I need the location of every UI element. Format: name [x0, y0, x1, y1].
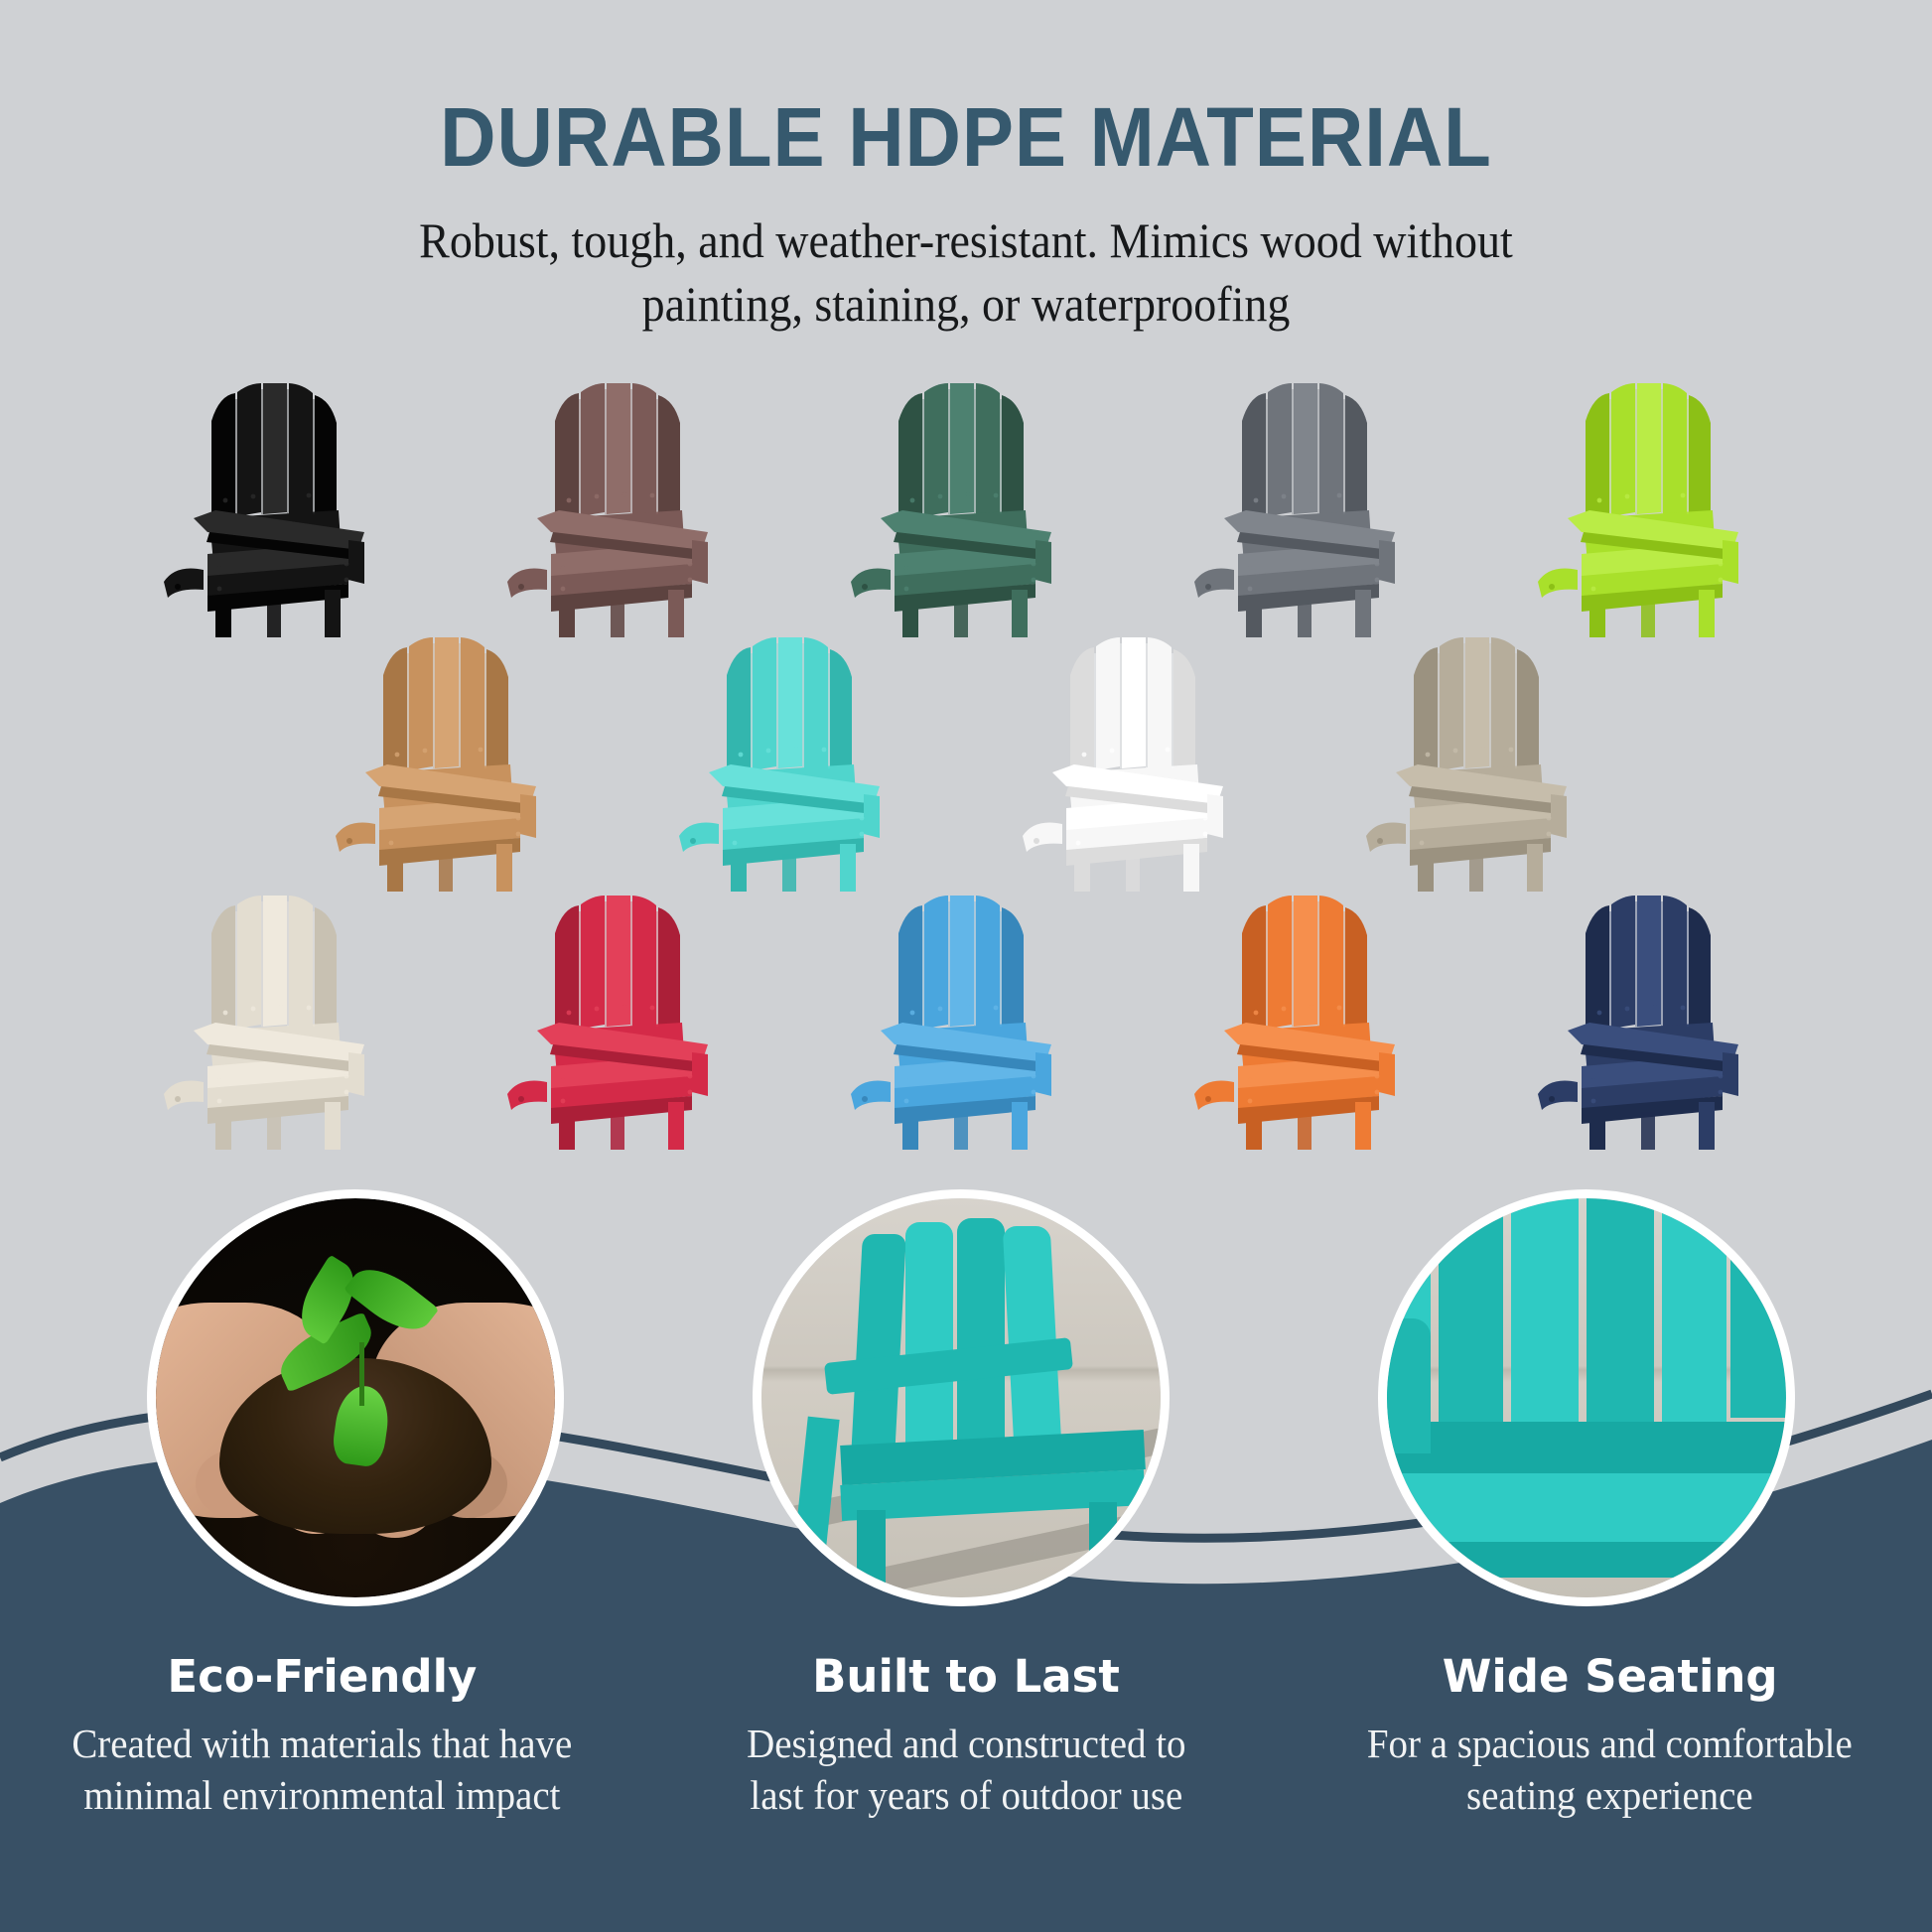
feature-photo-built-to-last	[753, 1189, 1170, 1606]
chair-illustration	[150, 369, 408, 637]
chair-swatch-brown[interactable]	[493, 369, 752, 637]
chair-swatch-gray[interactable]	[1180, 369, 1439, 637]
chair-leg	[1089, 1502, 1117, 1597]
feature-title: Built to Last	[672, 1652, 1261, 1702]
header: DURABLE HDPE MATERIAL Robust, tough, and…	[0, 0, 1932, 336]
chair-swatch-crimson-red[interactable]	[493, 882, 752, 1150]
chair-illustration	[1180, 882, 1439, 1150]
subtitle-line-2: painting, staining, or waterproofing	[77, 272, 1855, 336]
subtitle-line-1: Robust, tough, and weather-resistant. Mi…	[77, 208, 1855, 272]
chair-illustration	[665, 623, 923, 892]
page-subtitle: Robust, tough, and weather-resistant. Mi…	[77, 179, 1855, 336]
feature-photo-wide-seating	[1378, 1189, 1795, 1606]
chair-illustration	[1524, 882, 1782, 1150]
chair-armrest	[1387, 1318, 1431, 1454]
feature-captions: Eco-Friendly Created with materials that…	[0, 1652, 1932, 1821]
feature-photos	[0, 1189, 1932, 1656]
chair-back-slat	[1662, 1198, 1725, 1422]
chair-swatch-lime-green[interactable]	[1524, 369, 1782, 637]
chair-seat-front-edge	[1387, 1422, 1786, 1473]
chair-illustration	[493, 369, 752, 637]
chair-seat-apron	[1387, 1542, 1786, 1578]
chair-illustration	[322, 623, 580, 892]
chair-row-1	[0, 369, 1932, 637]
feature-description: Created with materials that have minimal…	[43, 1718, 602, 1822]
chair-row-2	[0, 623, 1932, 892]
feature-description-line-2: last for years of outdoor use	[750, 1772, 1182, 1818]
chair-back-slat	[1439, 1198, 1502, 1422]
chair-illustration	[1352, 623, 1610, 892]
chair-swatch-white[interactable]	[1009, 623, 1267, 892]
feature-description-line-2: minimal environmental impact	[83, 1772, 560, 1818]
chair-illustration	[493, 882, 752, 1150]
feature-description-line-1: For a spacious and comfortable	[1367, 1721, 1853, 1766]
chair-back-slat	[1587, 1198, 1654, 1422]
feature-title: Eco-Friendly	[28, 1652, 617, 1702]
chair-swatch-ivory[interactable]	[150, 882, 408, 1150]
feature-description: For a spacious and comfortable seating e…	[1330, 1718, 1889, 1822]
chair-swatch-greige[interactable]	[1352, 623, 1610, 892]
chair-back-slat	[1511, 1198, 1579, 1422]
page-title: DURABLE HDPE MATERIAL	[68, 0, 1864, 179]
chair-back-slat	[905, 1222, 953, 1461]
feature-photo-eco-friendly	[147, 1189, 564, 1606]
chair-leg	[857, 1510, 885, 1597]
chair-illustration	[1009, 623, 1267, 892]
chair-wide-seat	[1387, 1473, 1786, 1541]
stem	[359, 1342, 364, 1406]
chair-swatch-turquoise[interactable]	[665, 623, 923, 892]
chair-swatch-navy-blue[interactable]	[1524, 882, 1782, 1150]
chair-back-slat	[957, 1218, 1005, 1465]
chair-illustration	[837, 882, 1095, 1150]
chair-illustration	[1180, 369, 1439, 637]
chair-swatch-black[interactable]	[150, 369, 408, 637]
chair-illustration	[150, 882, 408, 1150]
chair-back-slat	[1730, 1198, 1786, 1418]
feature-description-line-1: Created with materials that have	[71, 1721, 572, 1766]
feature-title: Wide Seating	[1315, 1652, 1904, 1702]
chair-swatch-sky-blue[interactable]	[837, 882, 1095, 1150]
infographic-canvas: DURABLE HDPE MATERIAL Robust, tough, and…	[0, 0, 1932, 1932]
feature-description: Designed and constructed to last for yea…	[686, 1718, 1245, 1822]
chair-swatch-orange[interactable]	[1180, 882, 1439, 1150]
chair-illustration	[837, 369, 1095, 637]
chair-swatch-teak-tan[interactable]	[322, 623, 580, 892]
caption-built-to-last: Built to Last Designed and constructed t…	[644, 1652, 1289, 1821]
chair-color-grid	[0, 369, 1932, 1150]
feature-description-line-1: Designed and constructed to	[747, 1721, 1185, 1766]
chair-swatch-dark-green[interactable]	[837, 369, 1095, 637]
caption-eco-friendly: Eco-Friendly Created with materials that…	[0, 1652, 644, 1821]
chair-row-3	[0, 882, 1932, 1150]
caption-wide-seating: Wide Seating For a spacious and comforta…	[1288, 1652, 1932, 1821]
feature-description-line-2: seating experience	[1466, 1772, 1753, 1818]
chair-illustration	[1524, 369, 1782, 637]
